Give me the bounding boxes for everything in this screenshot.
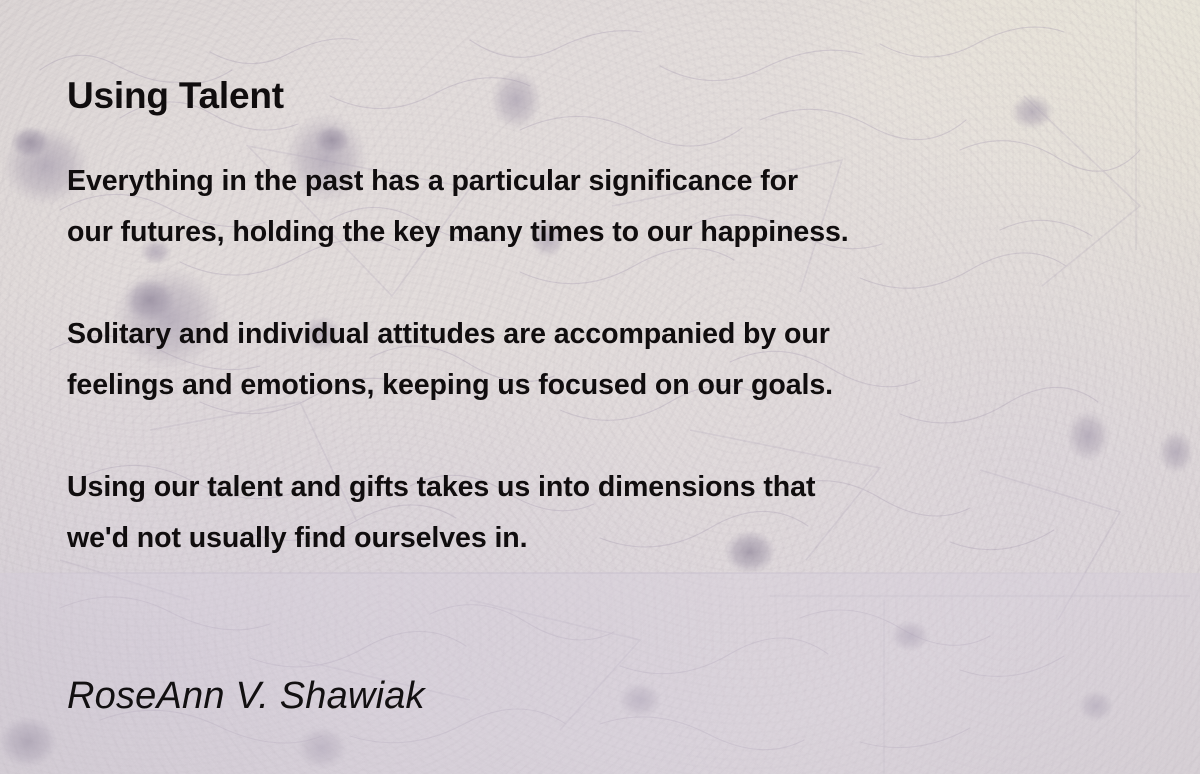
poem-line: feelings and emotions, keeping us focuse…: [67, 360, 1032, 411]
poem-title: Using Talent: [67, 75, 284, 117]
poem-body: Everything in the past has a particular …: [67, 156, 1047, 615]
poem-content: Using Talent Everything in the past has …: [0, 0, 1200, 774]
poem-line: Using our talent and gifts takes us into…: [67, 462, 1032, 513]
poem-author: RoseAnn V. Shawiak: [67, 675, 425, 718]
poem-page: Using Talent Everything in the past has …: [0, 0, 1200, 774]
stanza: Solitary and individual attitudes are ac…: [67, 309, 1047, 411]
poem-line: Everything in the past has a particular …: [67, 156, 1032, 207]
poem-line: we'd not usually find ourselves in.: [67, 513, 1032, 564]
stanza: Using our talent and gifts takes us into…: [67, 462, 1047, 564]
stanza: Everything in the past has a particular …: [67, 156, 1047, 258]
poem-line: our futures, holding the key many times …: [67, 207, 1032, 258]
poem-line: Solitary and individual attitudes are ac…: [67, 309, 1032, 360]
